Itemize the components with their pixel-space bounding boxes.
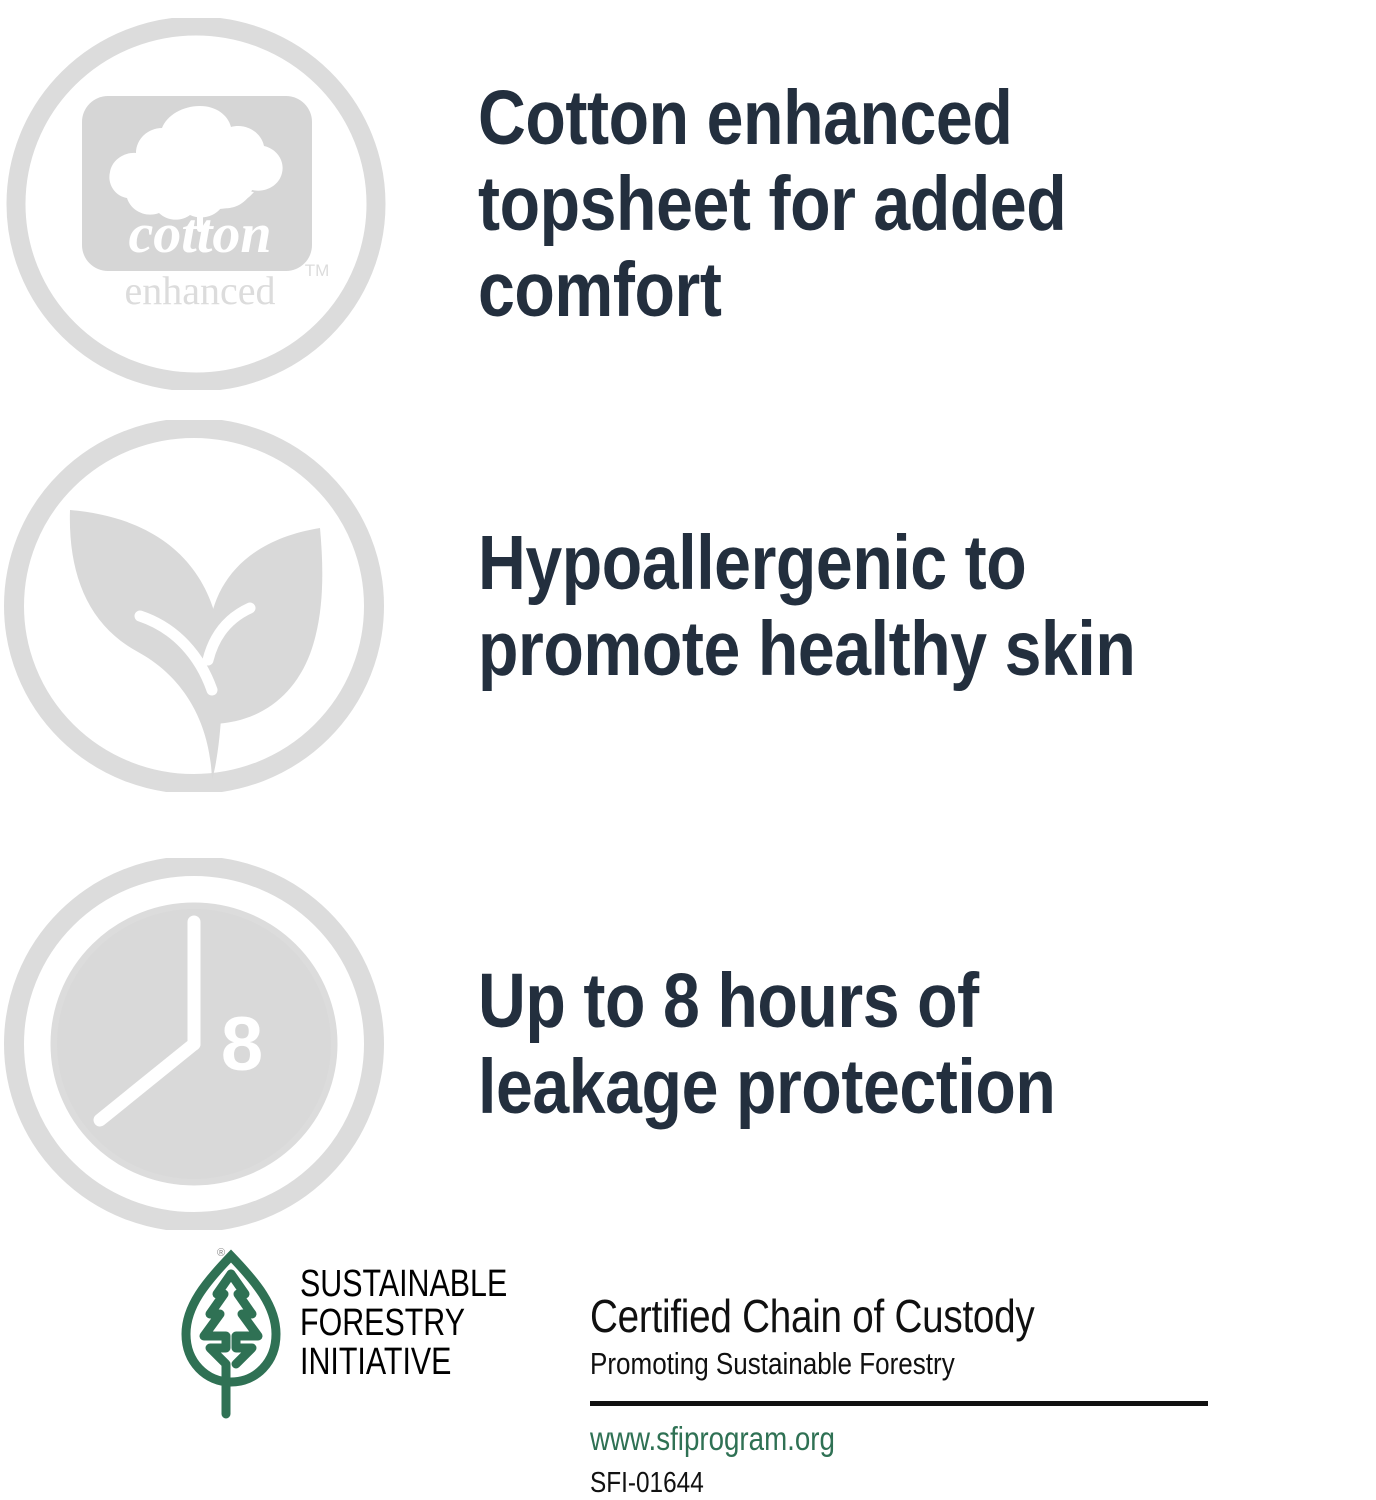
cotton-enhanced-subtext: enhanced	[124, 268, 275, 313]
feature-text-cotton-enhanced: Cotton enhanced topsheet for added comfo…	[478, 75, 1250, 334]
two-leaves-icon-wrap	[0, 420, 400, 792]
sfi-mark-wrap: ®	[176, 1248, 286, 1423]
feature-row-hypoallergenic: Hypoallergenic to promote healthy skin	[0, 420, 1376, 792]
sfi-logo-block: ® SUSTAINABLE FORESTRY INITIATIVE	[176, 1248, 559, 1423]
feature-text-leakage-protection: Up to 8 hours of leakage protection	[478, 958, 1250, 1130]
infographic-page: cotton TM enhanced Cotton enhanced topsh…	[0, 0, 1376, 1500]
clock-icon-wrap: 8	[0, 858, 400, 1230]
certification-block: Certified Chain of Custody Promoting Sus…	[590, 1292, 1220, 1499]
cotton-enhanced-badge-icon: cotton TM enhanced	[4, 18, 396, 390]
sfi-wordmark: SUSTAINABLE FORESTRY INITIATIVE	[300, 1265, 507, 1382]
cotton-wordmark: cotton	[128, 203, 271, 265]
feature-text-hypoallergenic: Hypoallergenic to promote healthy skin	[478, 520, 1250, 692]
feature-row-cotton-enhanced: cotton TM enhanced Cotton enhanced topsh…	[0, 18, 1376, 390]
sfi-leaf-tree-icon: ®	[176, 1248, 286, 1423]
certification-title: Certified Chain of Custody	[590, 1292, 1119, 1340]
clock-eight-hours-icon: 8	[4, 858, 396, 1230]
certification-divider	[590, 1401, 1208, 1406]
sfi-registered-symbol: ®	[217, 1248, 225, 1259]
clock-hour-number: 8	[221, 1002, 263, 1087]
certification-code: SFI-01644	[590, 1468, 1119, 1498]
feature-row-leakage-protection: 8 Up to 8 hours of leakage protection	[0, 858, 1376, 1230]
certification-subtitle: Promoting Sustainable Forestry	[590, 1348, 1119, 1381]
two-leaves-circle-icon	[4, 420, 396, 792]
cotton-trademark-symbol: TM	[305, 261, 330, 280]
cotton-enhanced-icon-wrap: cotton TM enhanced	[0, 18, 400, 390]
certification-url[interactable]: www.sfiprogram.org	[590, 1422, 1119, 1457]
